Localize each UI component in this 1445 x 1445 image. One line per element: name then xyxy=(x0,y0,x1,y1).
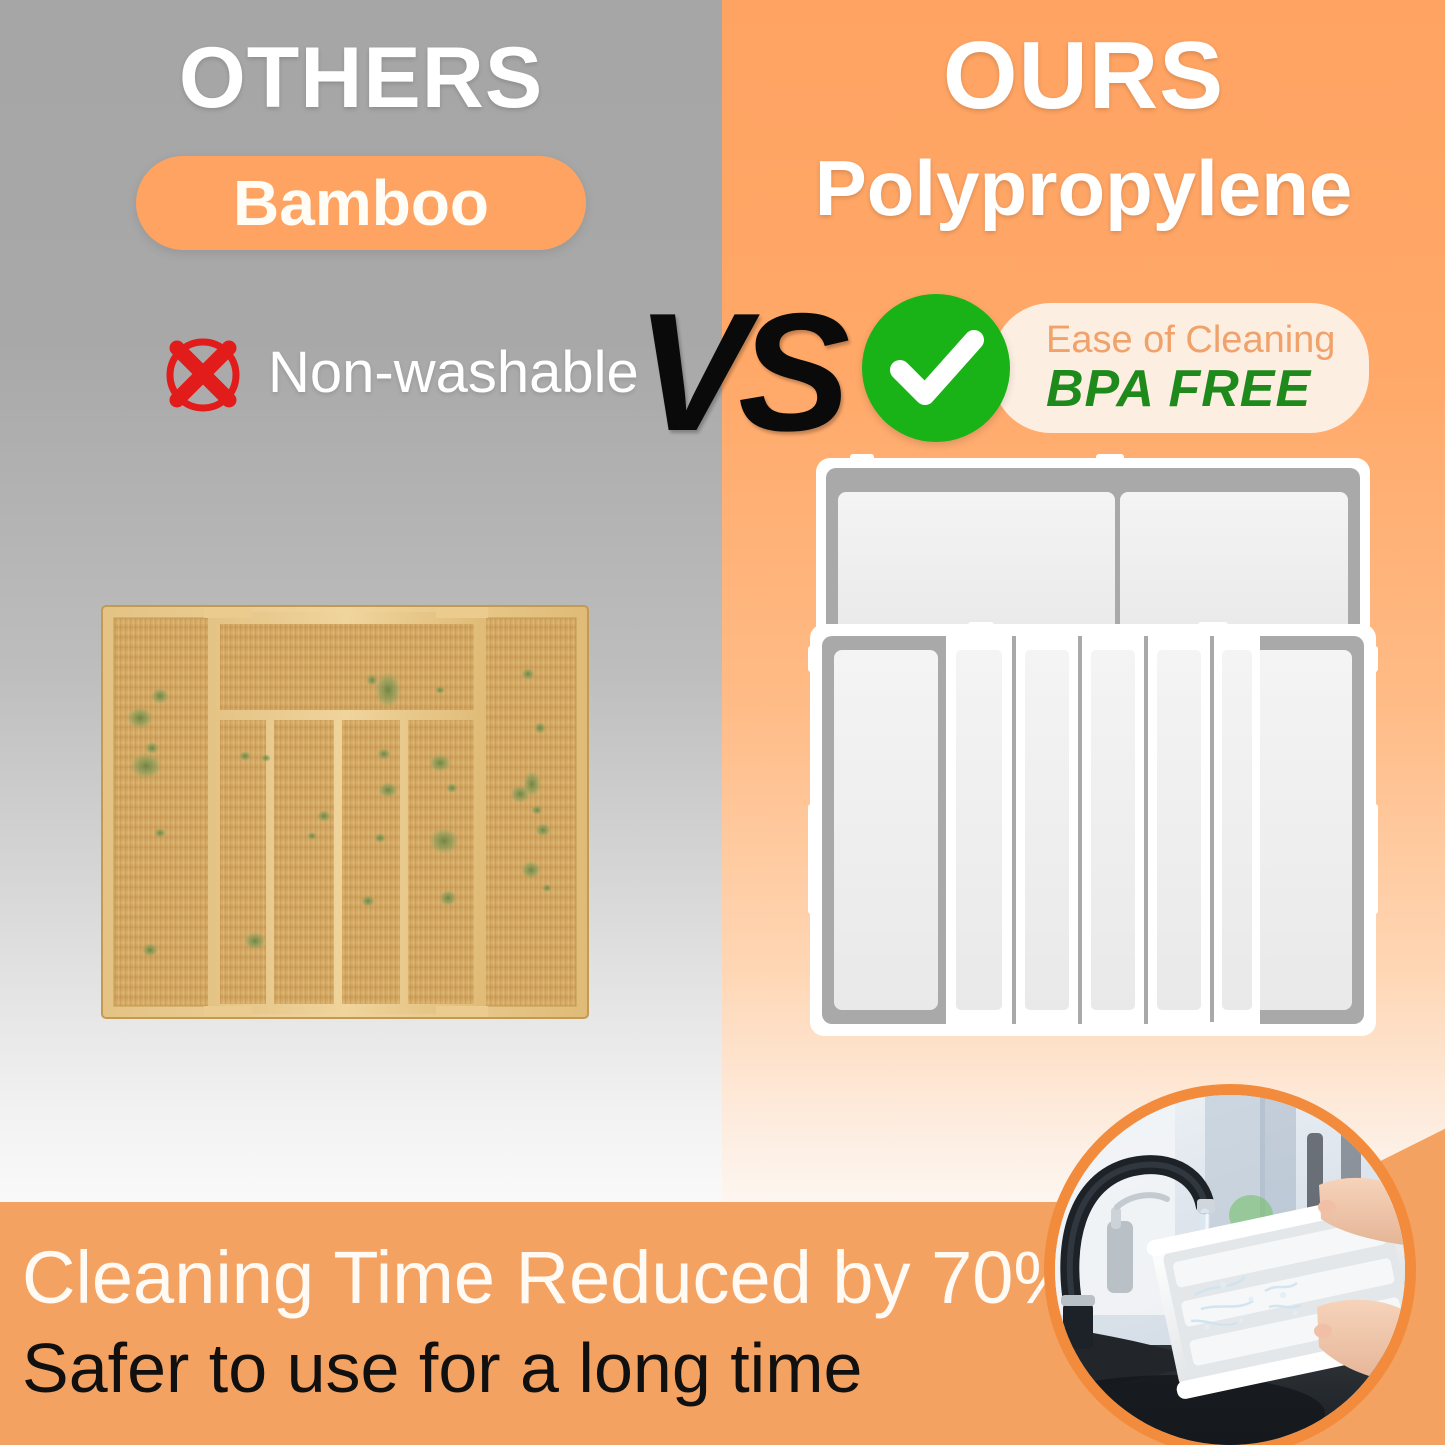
white-organizer-image xyxy=(808,452,1378,1040)
ease-of-cleaning-label: Ease of Cleaning xyxy=(1046,319,1335,361)
red-x-circle-icon xyxy=(160,330,246,416)
product-comparison-image: OTHERS Bamboo Non-washable xyxy=(0,0,1445,1445)
banner-headline: Cleaning Time Reduced by 70% xyxy=(22,1238,1052,1318)
green-check-circle-icon xyxy=(862,294,1010,442)
bamboo-material-badge: Bamboo xyxy=(136,156,586,250)
versus-mark: VS xyxy=(636,288,840,456)
ours-title: OURS xyxy=(722,22,1445,130)
banner-subline: Safer to use for a long time xyxy=(22,1330,1052,1406)
bpa-free-label: BPA FREE xyxy=(1046,361,1335,417)
bamboo-organizer-image xyxy=(100,598,590,1030)
washing-demo-photo xyxy=(1044,1084,1416,1445)
polypropylene-title: Polypropylene xyxy=(722,140,1445,236)
non-washable-feature-row: Non-washable xyxy=(160,330,639,416)
bpa-free-feature-group: Ease of Cleaning BPA FREE xyxy=(862,292,1369,444)
bamboo-badge-label: Bamboo xyxy=(233,171,489,235)
non-washable-label: Non-washable xyxy=(268,342,639,404)
others-title: OTHERS xyxy=(0,30,722,126)
bpa-free-pill: Ease of Cleaning BPA FREE xyxy=(992,303,1369,433)
